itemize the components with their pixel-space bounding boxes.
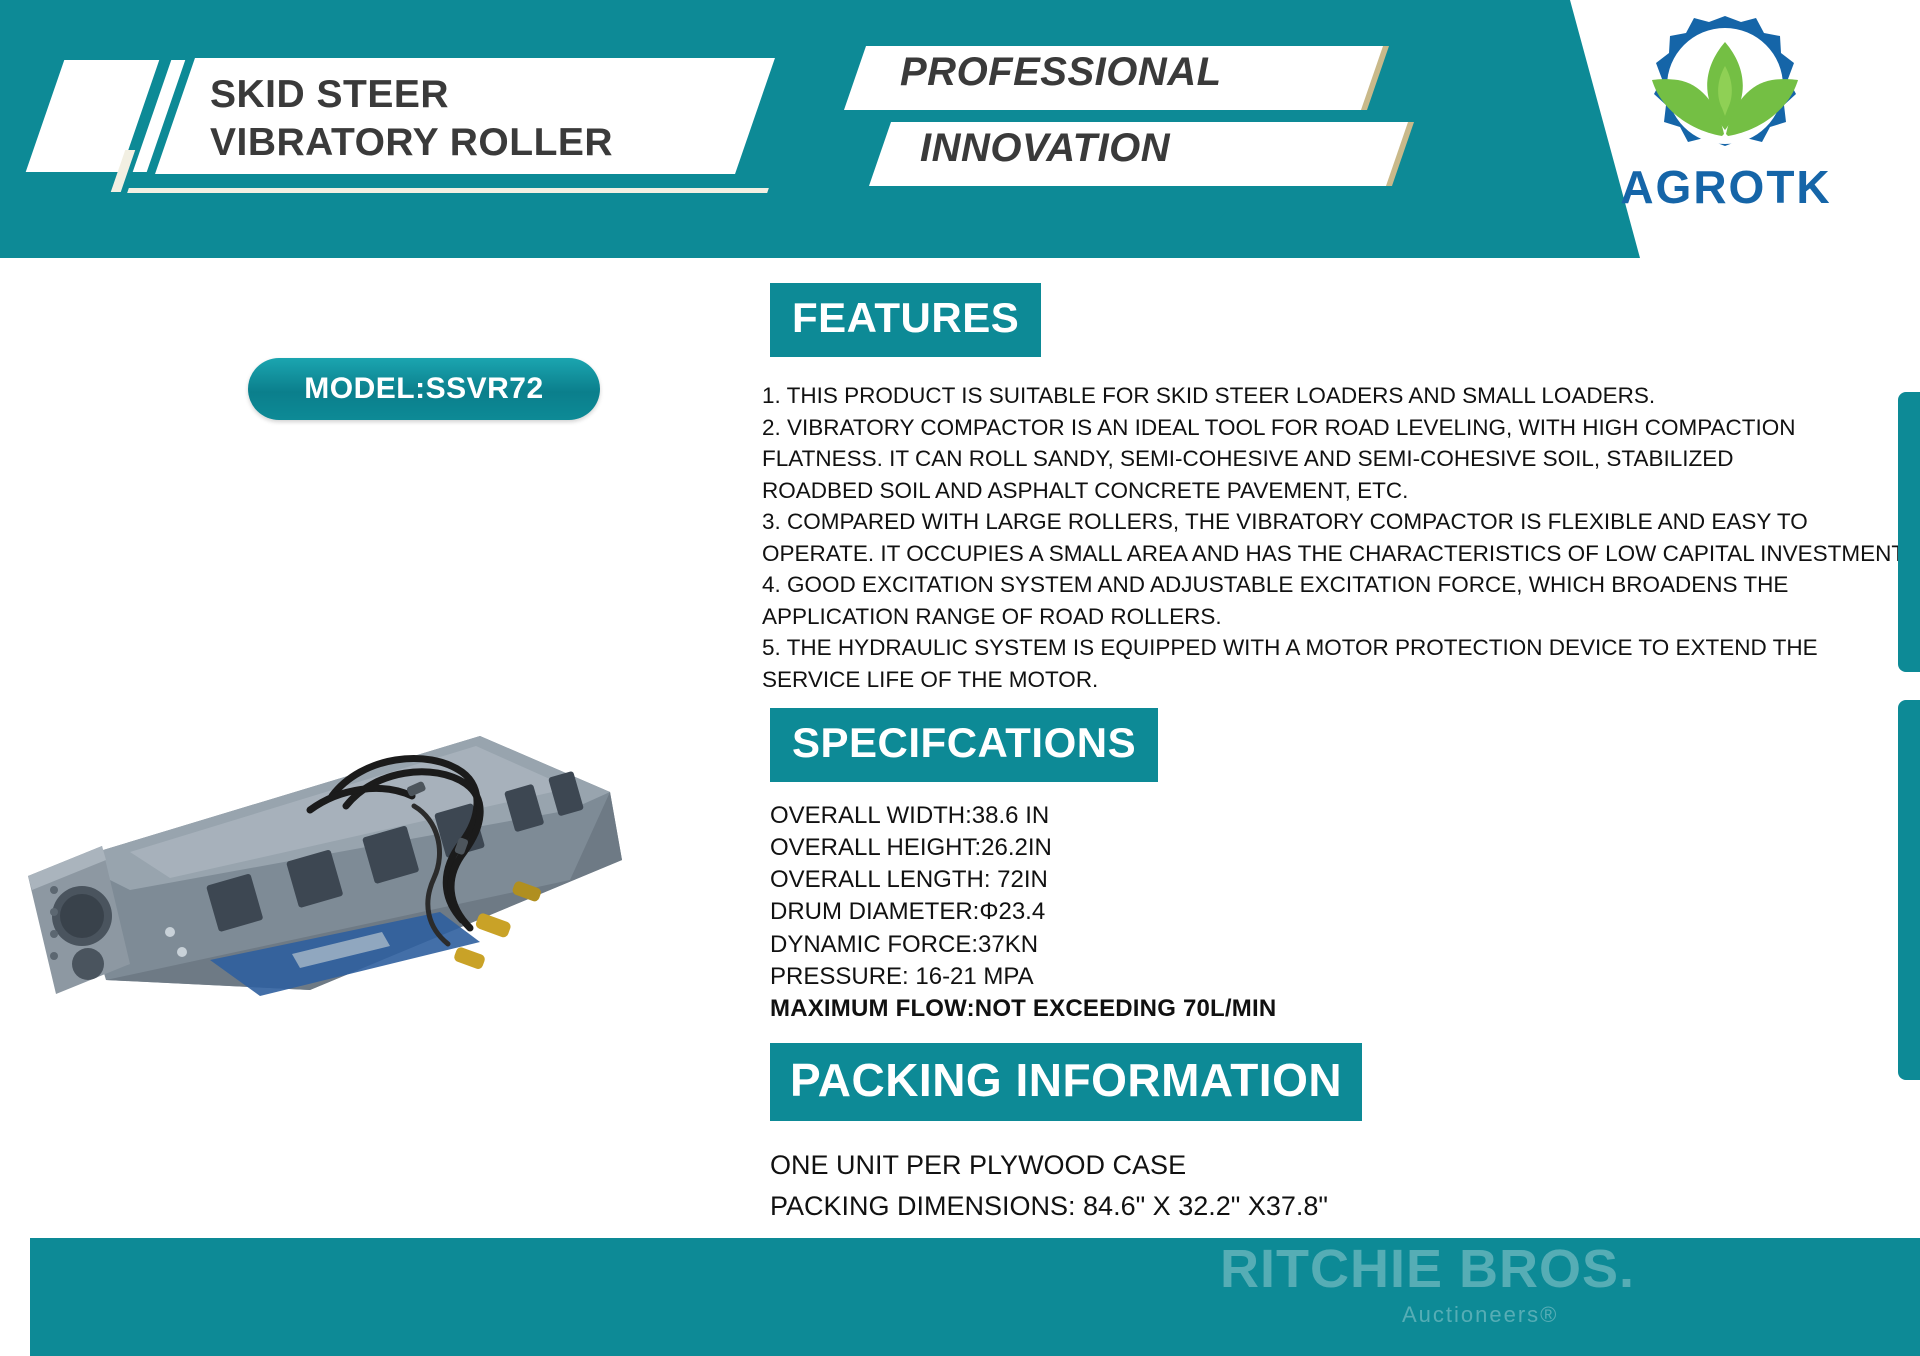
feature-item: 4. GOOD EXCITATION SYSTEM AND ADJUSTABLE…: [762, 569, 1892, 601]
spec-row: OVERALL HEIGHT:26.2IN: [770, 832, 1370, 864]
packing-heading: PACKING INFORMATION: [770, 1043, 1362, 1121]
spec-row: DRUM DIAMETER:Φ23.4: [770, 896, 1370, 928]
agrotk-logo: AGROTK: [1592, 8, 1860, 238]
page-header: SKID STEER VIBRATORY ROLLER PROFESSIONAL…: [0, 0, 1920, 258]
header-underline: [127, 188, 769, 193]
specifications-list: OVERALL WIDTH:38.6 IN OVERALL HEIGHT:26.…: [770, 800, 1370, 1025]
packing-list: ONE UNIT PER PLYWOOD CASE PACKING DIMENS…: [770, 1145, 1670, 1226]
specifications-heading: SPECIFCATIONS: [770, 708, 1158, 782]
feature-item: OPERATE. IT OCCUPIES A SMALL AREA AND HA…: [762, 538, 1892, 570]
spec-row: OVERALL WIDTH:38.6 IN: [770, 800, 1370, 832]
side-accent-tab-top: [1898, 392, 1920, 672]
product-photo: [10, 560, 730, 1030]
tagline-professional: PROFESSIONAL: [900, 50, 1222, 95]
gear-leaf-icon: [1610, 8, 1840, 168]
ritchie-bros-watermark: RITCHIE BROS. Auctioneers®: [1220, 1242, 1860, 1328]
header-bottom-step-triangle: [1180, 212, 1226, 258]
feature-item: APPLICATION RANGE OF ROAD ROLLERS.: [762, 601, 1892, 633]
agrotk-wordmark: AGROTK: [1592, 160, 1860, 214]
watermark-main-text: RITCHIE BROS.: [1220, 1242, 1635, 1296]
features-list: 1. THIS PRODUCT IS SUITABLE FOR SKID STE…: [762, 380, 1892, 695]
feature-item: 2. VIBRATORY COMPACTOR IS AN IDEAL TOOL …: [762, 412, 1892, 444]
feature-item: FLATNESS. IT CAN ROLL SANDY, SEMI-COHESI…: [762, 443, 1892, 475]
side-accent-tab-bottom: [1898, 700, 1920, 1080]
feature-item: SERVICE LIFE OF THE MOTOR.: [762, 664, 1892, 696]
page-title-line-2: VIBRATORY ROLLER: [210, 119, 770, 167]
features-heading: FEATURES: [770, 283, 1041, 357]
tagline-innovation: INNOVATION: [920, 126, 1170, 171]
spec-row: DYNAMIC FORCE:37KN: [770, 929, 1370, 961]
feature-item: 1. THIS PRODUCT IS SUITABLE FOR SKID STE…: [762, 380, 1892, 412]
page-title-line-1: SKID STEER: [210, 71, 770, 119]
model-badge: MODEL:SSVR72: [248, 358, 600, 420]
feature-item: 3. COMPARED WITH LARGE ROLLERS, THE VIBR…: [762, 506, 1892, 538]
feature-item: ROADBED SOIL AND ASPHALT CONCRETE PAVEME…: [762, 475, 1892, 507]
feature-item: 5. THE HYDRAULIC SYSTEM IS EQUIPPED WITH…: [762, 632, 1892, 664]
spec-sheet: SKID STEER VIBRATORY ROLLER PROFESSIONAL…: [0, 0, 1920, 1356]
spec-row-max-flow: MAXIMUM FLOW:NOT EXCEEDING 70L/MIN: [770, 993, 1370, 1025]
page-title: SKID STEER VIBRATORY ROLLER: [210, 60, 770, 178]
watermark-sub-text: Auctioneers®: [1402, 1302, 1558, 1328]
spec-row: OVERALL LENGTH: 72IN: [770, 864, 1370, 896]
header-bottom-step: [0, 212, 1180, 258]
packing-line: PACKING DIMENSIONS: 84.6" X 32.2" X37.8": [770, 1186, 1670, 1227]
packing-line: ONE UNIT PER PLYWOOD CASE: [770, 1145, 1670, 1186]
spec-row: PRESSURE: 16-21 MPA: [770, 961, 1370, 993]
footer-left-notch: [0, 1238, 30, 1356]
